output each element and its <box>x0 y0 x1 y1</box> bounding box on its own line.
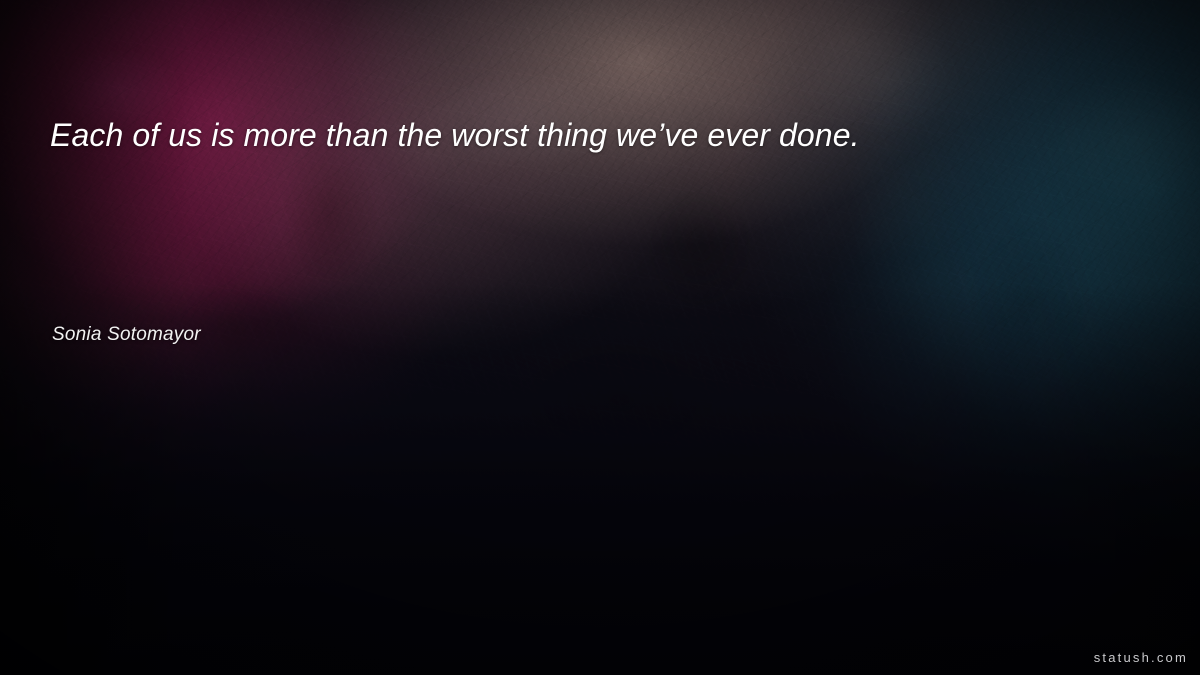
watermark-label: statush.com <box>1094 650 1188 666</box>
quote-body: Each of us is more than the worst thing … <box>50 113 1110 157</box>
quote-card: Each of us is more than the worst thing … <box>0 0 1200 675</box>
quote-author: Sonia Sotomayor <box>52 322 201 348</box>
